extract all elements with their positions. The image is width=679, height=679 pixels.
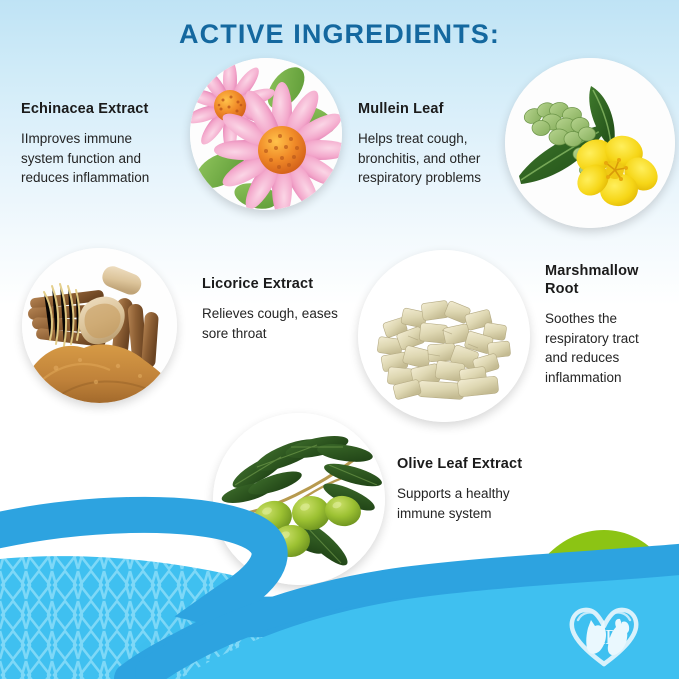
page-title: ACTIVE INGREDIENTS:	[0, 19, 679, 50]
mullein-leaf-photo	[505, 58, 675, 228]
ingredient-text-echinacea: Echinacea Extract IImproves immune syste…	[21, 100, 181, 188]
ingredient-image-olive-leaf	[213, 413, 385, 585]
ingredient-description: Supports a healthy immune system	[397, 484, 572, 523]
ingredient-text-mullein: Mullein Leaf Helps treat cough, bronchit…	[358, 100, 508, 188]
ingredient-text-licorice: Licorice Extract Relieves cough, eases s…	[202, 275, 377, 343]
ingredient-name: Marshmallow Root	[545, 262, 670, 298]
brand-logo: RP	[566, 598, 642, 668]
marshmallow-root-chips-photo	[358, 250, 530, 422]
licorice-root-powder-photo	[22, 248, 177, 403]
heart-pet-logo-icon: RP	[566, 598, 642, 668]
ingredient-description: IImproves immune system function and red…	[21, 129, 181, 188]
ingredient-description: Relieves cough, eases sore throat	[202, 304, 377, 343]
ingredient-image-echinacea	[190, 58, 342, 210]
ingredient-image-mullein	[505, 58, 675, 228]
ingredient-description: Soothes the respiratory tract and reduce…	[545, 309, 670, 387]
ingredient-name: Licorice Extract	[202, 275, 377, 293]
infographic-canvas: ACTIVE INGREDIENTS:	[0, 0, 679, 679]
ingredient-text-olive-leaf: Olive Leaf Extract Supports a healthy im…	[397, 455, 572, 523]
ingredient-image-marshmallow-root	[358, 250, 530, 422]
ingredient-text-marshmallow-root: Marshmallow Root Soothes the respiratory…	[545, 262, 670, 387]
ingredient-description: Helps treat cough, bronchitis, and other…	[358, 129, 508, 188]
echinacea-flower-photo	[190, 58, 342, 210]
ingredient-name: Olive Leaf Extract	[397, 455, 572, 473]
olive-branch-photo	[213, 413, 385, 585]
ingredient-image-licorice	[22, 248, 177, 403]
ingredient-name: Mullein Leaf	[358, 100, 508, 118]
ingredient-name: Echinacea Extract	[21, 100, 181, 118]
logo-monogram: RP	[591, 625, 617, 649]
